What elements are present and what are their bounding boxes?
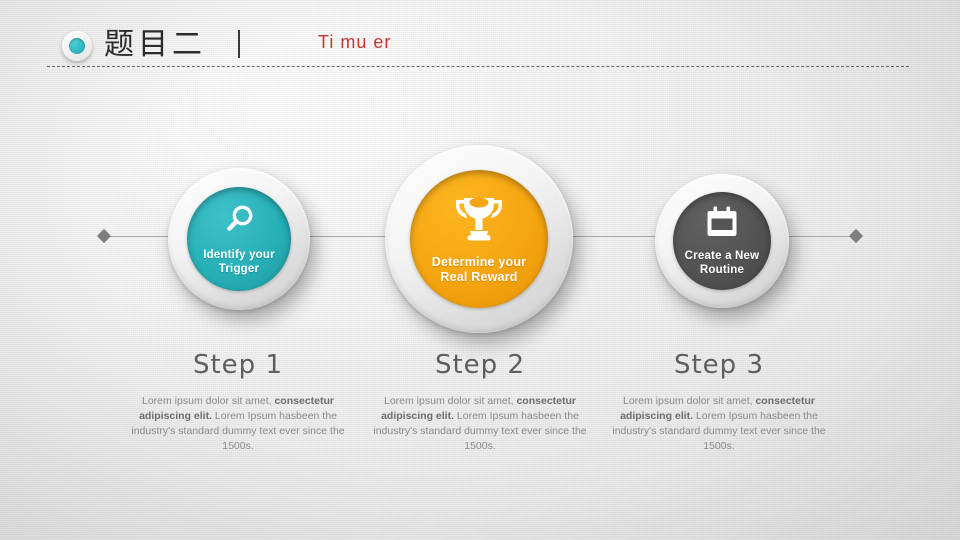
step-block-1: Step 1 Lorem ipsum dolor sit amet, conse… [118, 350, 358, 454]
filled-circle-icon [62, 31, 92, 61]
slide-canvas: 题目二 Ti mu er Identify your Trigger [0, 0, 960, 540]
step-desc-lead: Lorem ipsum dolor sit amet, [623, 395, 755, 407]
node-label: Create a New Routine [677, 249, 768, 277]
step-description: Lorem ipsum dolor sit amet, consectetur … [118, 394, 358, 454]
diamond-marker-right [849, 229, 863, 243]
node-label-line2: Real Reward [440, 270, 517, 284]
trophy-icon [452, 194, 506, 249]
step-title: Step 3 [602, 350, 836, 380]
step-desc-lead: Lorem ipsum dolor sit amet, [142, 395, 274, 407]
step-description: Lorem ipsum dolor sit amet, consectetur … [602, 394, 836, 454]
calendar-icon [705, 206, 739, 243]
magnifier-icon [222, 203, 256, 242]
process-node-1[interactable]: Identify your Trigger [168, 168, 310, 310]
node-disc[interactable]: Identify your Trigger [187, 187, 291, 291]
step-block-2: Step 2 Lorem ipsum dolor sit amet, conse… [372, 350, 588, 454]
step-title: Step 2 [372, 350, 588, 380]
header-divider [47, 66, 909, 67]
node-label: Identify your Trigger [195, 248, 283, 276]
process-node-2[interactable]: Determine your Real Reward [385, 145, 573, 333]
process-node-3[interactable]: Create a New Routine [655, 174, 789, 308]
node-label-line1: Create a New [685, 250, 760, 262]
node-label-line1: Identify your [203, 249, 275, 261]
node-label-line1: Determine your [432, 255, 527, 269]
page-subtitle: Ti mu er [318, 32, 391, 53]
page-title: 题目二 [104, 25, 206, 65]
node-disc[interactable]: Create a New Routine [673, 192, 771, 290]
node-disc[interactable]: Determine your Real Reward [410, 170, 548, 308]
step-block-3: Step 3 Lorem ipsum dolor sit amet, conse… [602, 350, 836, 454]
node-label-line2: Trigger [219, 263, 259, 275]
title-separator [238, 30, 240, 58]
step-description: Lorem ipsum dolor sit amet, consectetur … [372, 394, 588, 454]
step-title: Step 1 [118, 350, 358, 380]
node-label: Determine your Real Reward [424, 255, 535, 285]
diamond-marker-left [97, 229, 111, 243]
slide-header: 题目二 Ti mu er [0, 0, 960, 72]
step-desc-lead: Lorem ipsum dolor sit amet, [384, 395, 516, 407]
node-label-line2: Routine [700, 264, 744, 276]
